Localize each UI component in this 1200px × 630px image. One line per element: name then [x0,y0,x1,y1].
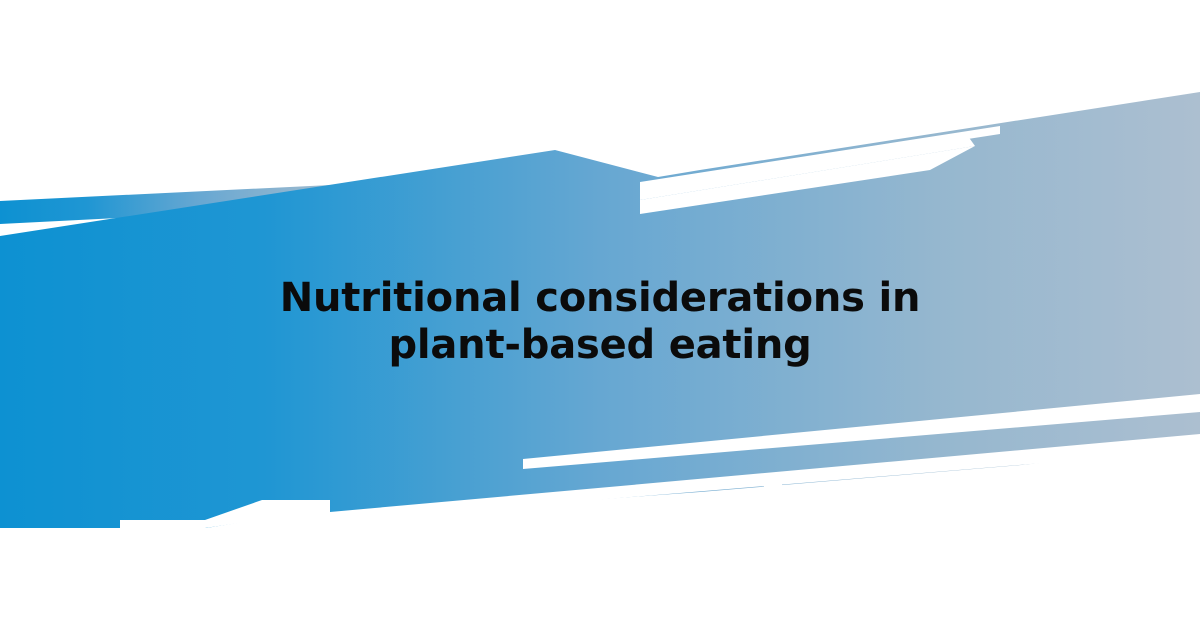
top-right-dash-left-cap [640,142,700,166]
top-right-dash-mark-gap-3 [785,126,795,152]
top-right-dash-mark-gap-2 [735,134,745,159]
bottom-stripe-separator-gap [764,479,782,504]
banner-graphic [0,0,1200,630]
top-right-dash-mark-gap-1 [716,138,724,161]
banner-root: Nutritional considerations in plant-base… [0,0,1200,630]
